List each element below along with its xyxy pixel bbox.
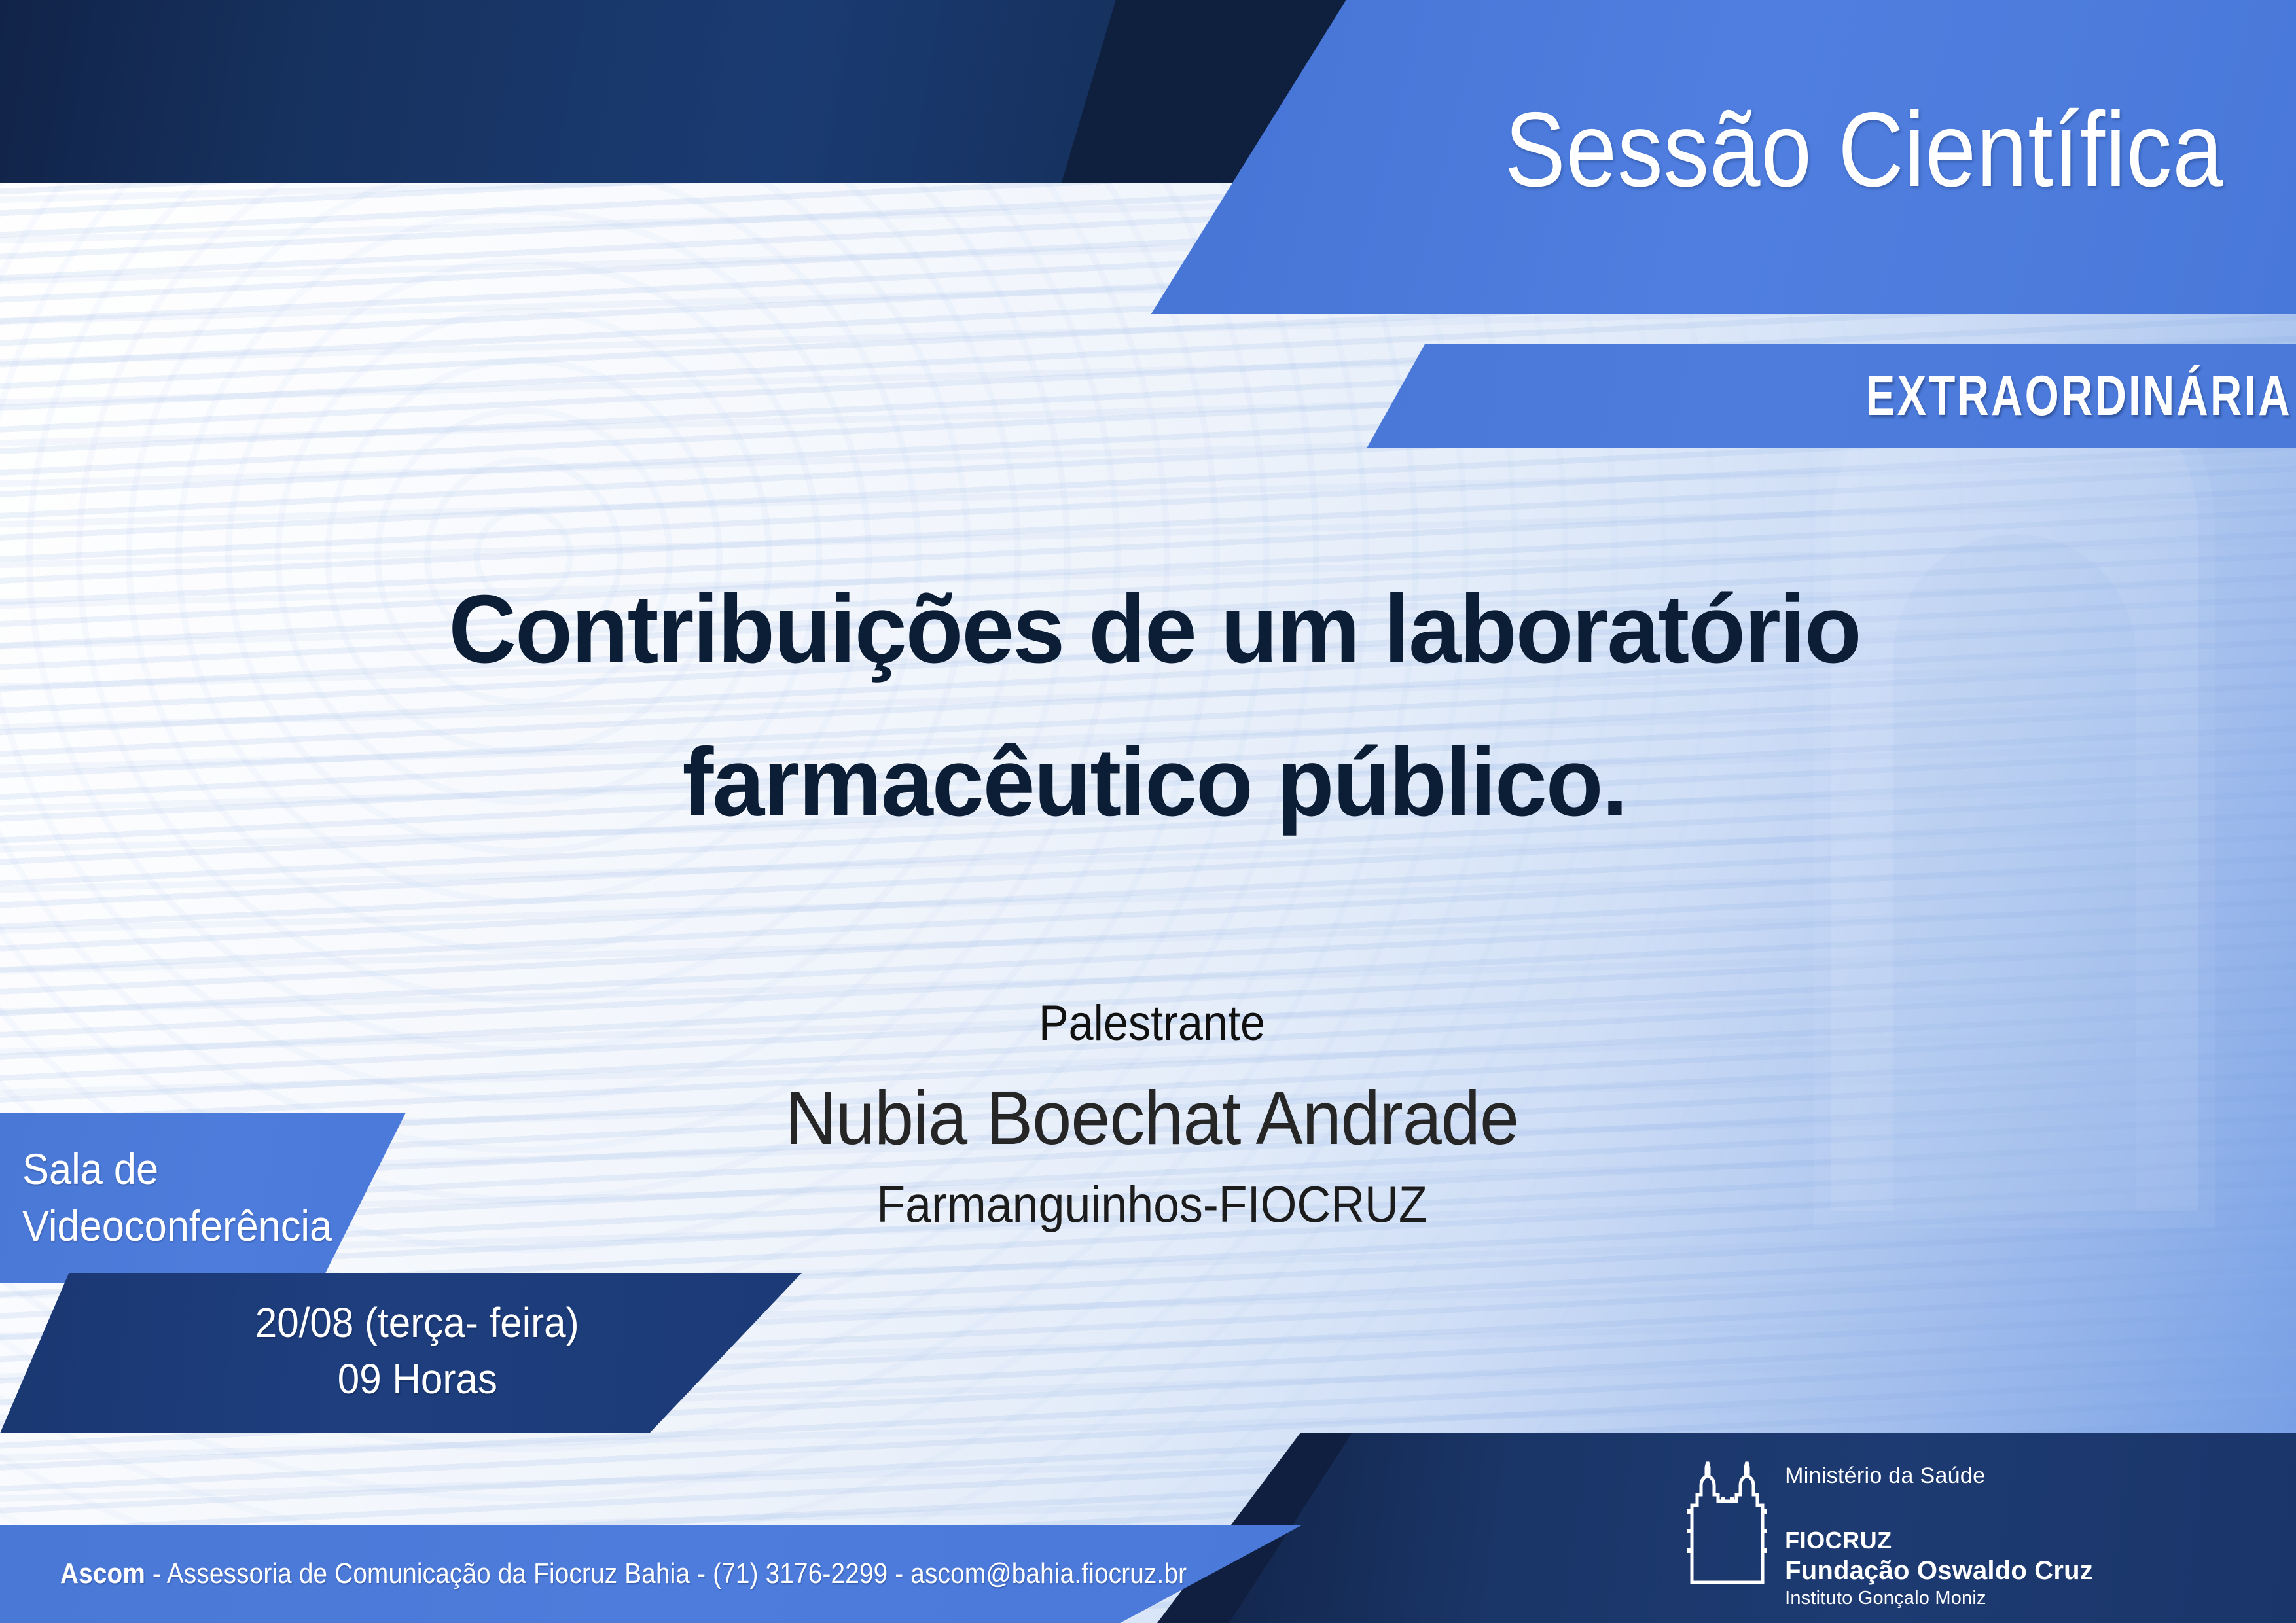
fiocruz-logo: Ministério da Saúde FIOCRUZ Fundação Osw…	[1687, 1461, 2093, 1609]
speaker-name: Nubia Boechat Andrade	[543, 1074, 1761, 1162]
poster-canvas: Sessão Científica EXTRAORDINÁRIA Contrib…	[0, 0, 2296, 1623]
page-title-line-2: farmacêutico público.	[155, 706, 2154, 859]
logo-foundation: Fundação Oswaldo Cruz	[1785, 1556, 2093, 1586]
logo-acronym: FIOCRUZ	[1785, 1527, 2093, 1554]
schedule-badge: 20/08 (terça- feira) 09 Horas	[0, 1273, 802, 1433]
venue-line-1: Sala de	[22, 1141, 379, 1198]
venue-badge: Sala de Videoconferência	[0, 1113, 406, 1283]
session-title: Sessão Científica	[1505, 97, 2224, 203]
footer-contact-bar: Ascom - Assessoria de Comunicação da Fio…	[0, 1525, 1302, 1623]
speaker-organization: Farmanguinhos-FIOCRUZ	[550, 1175, 1754, 1234]
speaker-block: Palestrante Nubia Boechat Andrade Farman…	[497, 995, 1806, 1234]
logo-spacer	[1785, 1487, 2093, 1527]
schedule-time: 09 Horas	[337, 1351, 497, 1408]
logo-institute: Instituto Gonçalo Moniz	[1785, 1588, 2093, 1609]
fiocruz-logo-text: Ministério da Saúde FIOCRUZ Fundação Osw…	[1785, 1461, 2093, 1609]
footer-org-details: - Assessoria de Comunicação da Fiocruz B…	[145, 1558, 1187, 1590]
page-title-line-1: Contribuições de um laboratório	[155, 553, 2154, 706]
schedule-date: 20/08 (terça- feira)	[255, 1295, 579, 1351]
page-title: Contribuições de um laboratório farmacêu…	[0, 553, 2296, 859]
extraordinaria-label: EXTRAORDINÁRIA	[1866, 364, 2292, 429]
speaker-label: Palestrante	[563, 995, 1741, 1052]
venue-line-2: Videoconferência	[22, 1198, 379, 1255]
footer-org-name: Ascom	[60, 1558, 145, 1590]
footer-contact-text: Ascom - Assessoria de Comunicação da Fio…	[60, 1558, 1187, 1590]
extraordinaria-banner: EXTRAORDINÁRIA	[1367, 344, 2296, 448]
logo-ministry: Ministério da Saúde	[1785, 1465, 2093, 1487]
fiocruz-castle-icon	[1687, 1461, 1768, 1585]
